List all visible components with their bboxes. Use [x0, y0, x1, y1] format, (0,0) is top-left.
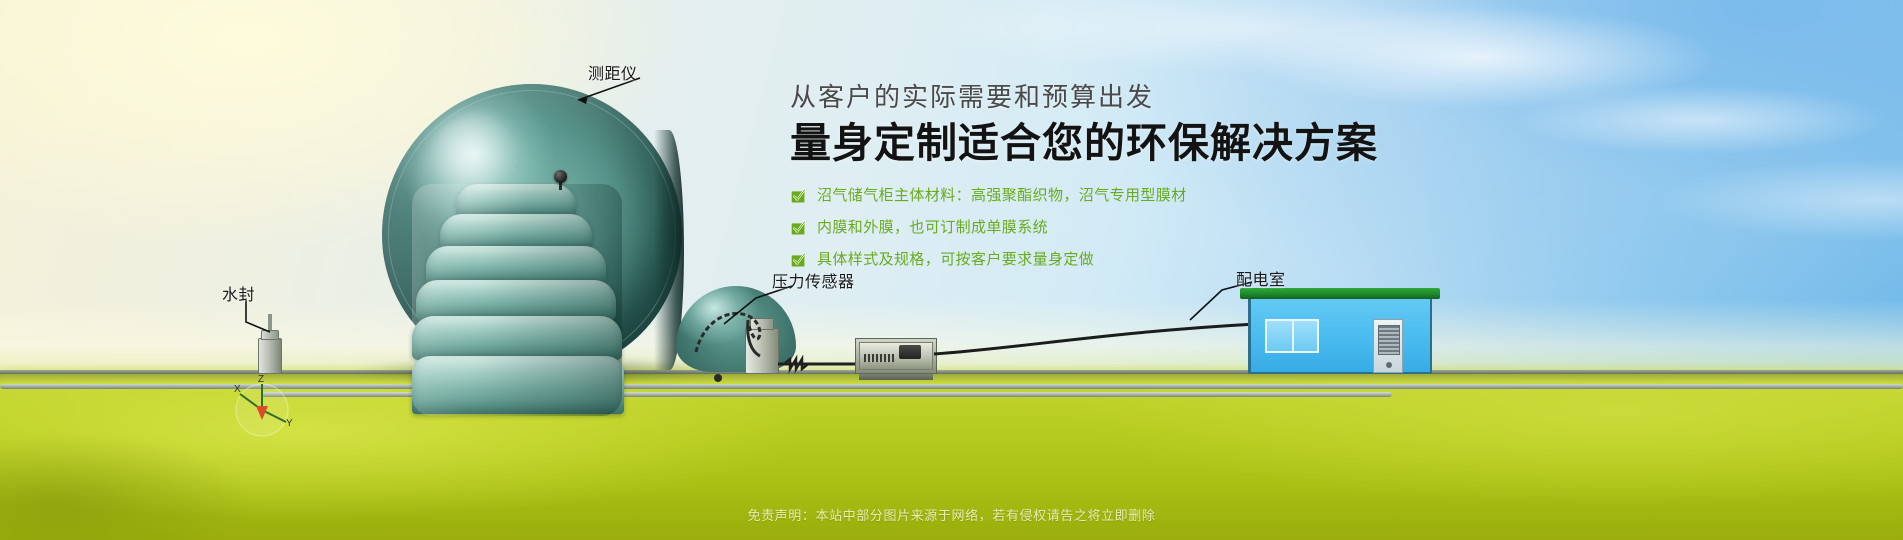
membrane-terrace: [416, 280, 616, 320]
door-knob-icon: [1386, 362, 1392, 368]
callout-rangefinder: 测距仪: [588, 60, 638, 84]
compressor-coil-icon: [864, 354, 894, 362]
water-seal-body: [258, 338, 282, 374]
feature-bullet-list: 沼气储气柜主体材料：高强聚酯织物，沼气专用型膜材 内膜和外膜，也可订制成单膜系统…: [790, 188, 1490, 269]
axis-label-y: Y: [286, 418, 293, 429]
water-seal-unit: [258, 330, 282, 374]
list-item: 具体样式及规格，可按客户要求量身定做: [790, 252, 1490, 269]
check-badge-icon: [790, 188, 807, 205]
axis-label-z: Z: [258, 374, 264, 385]
list-item: 沼气储气柜主体材料：高强聚酯织物，沼气专用型膜材: [790, 188, 1490, 205]
compressor-skid: [855, 338, 937, 374]
check-badge-icon: [790, 252, 807, 269]
bullet-text: 沼气储气柜主体材料：高强聚酯织物，沼气专用型膜材: [817, 188, 1187, 205]
bullet-text: 具体样式及规格，可按客户要求量身定做: [817, 252, 1094, 269]
pressure-sensor-unit: [745, 318, 779, 374]
membrane-terrace: [412, 316, 622, 360]
pressure-sensor-body: [745, 328, 779, 374]
building-window: [1265, 319, 1319, 353]
axis-label-x: X: [234, 384, 241, 395]
biogas-dome: [382, 84, 682, 374]
compressor-motor-icon: [899, 345, 921, 359]
compressor-base: [859, 374, 933, 380]
disclaimer-text: 免责声明：本站中部分图片来源于网络，若有侵权请告之将立即删除: [0, 505, 1903, 524]
callout-water-seal: 水封: [222, 281, 255, 305]
building-wall: [1248, 299, 1432, 374]
dome-specular-highlight: [416, 112, 536, 262]
bullet-text: 内膜和外膜，也可订制成单膜系统: [817, 220, 1048, 237]
power-distribution-building: [1248, 288, 1432, 374]
water-seal-cap: [261, 330, 279, 340]
banner-stage: Z Y X 测距仪 水封 压力传感器 配电室 从客户的实际需要和预算出发 量身定…: [0, 0, 1903, 540]
axis-orientation-gizmo: Z Y X: [228, 370, 296, 438]
list-item: 内膜和外膜，也可订制成单膜系统: [790, 220, 1490, 237]
check-badge-icon: [790, 220, 807, 237]
marketing-copy-block: 从客户的实际需要和预算出发 量身定制适合您的环保解决方案 沼气储气柜主体材料：高…: [790, 82, 1490, 284]
headline-subtitle: 从客户的实际需要和预算出发: [790, 82, 1490, 113]
headline-title: 量身定制适合您的环保解决方案: [790, 119, 1490, 167]
control-panel-icon: [1378, 325, 1400, 355]
pressure-sensor-cap: [750, 318, 774, 330]
rangefinder-sensor-icon: [554, 170, 567, 183]
membrane-terrace: [412, 356, 624, 414]
building-door: [1373, 319, 1403, 373]
